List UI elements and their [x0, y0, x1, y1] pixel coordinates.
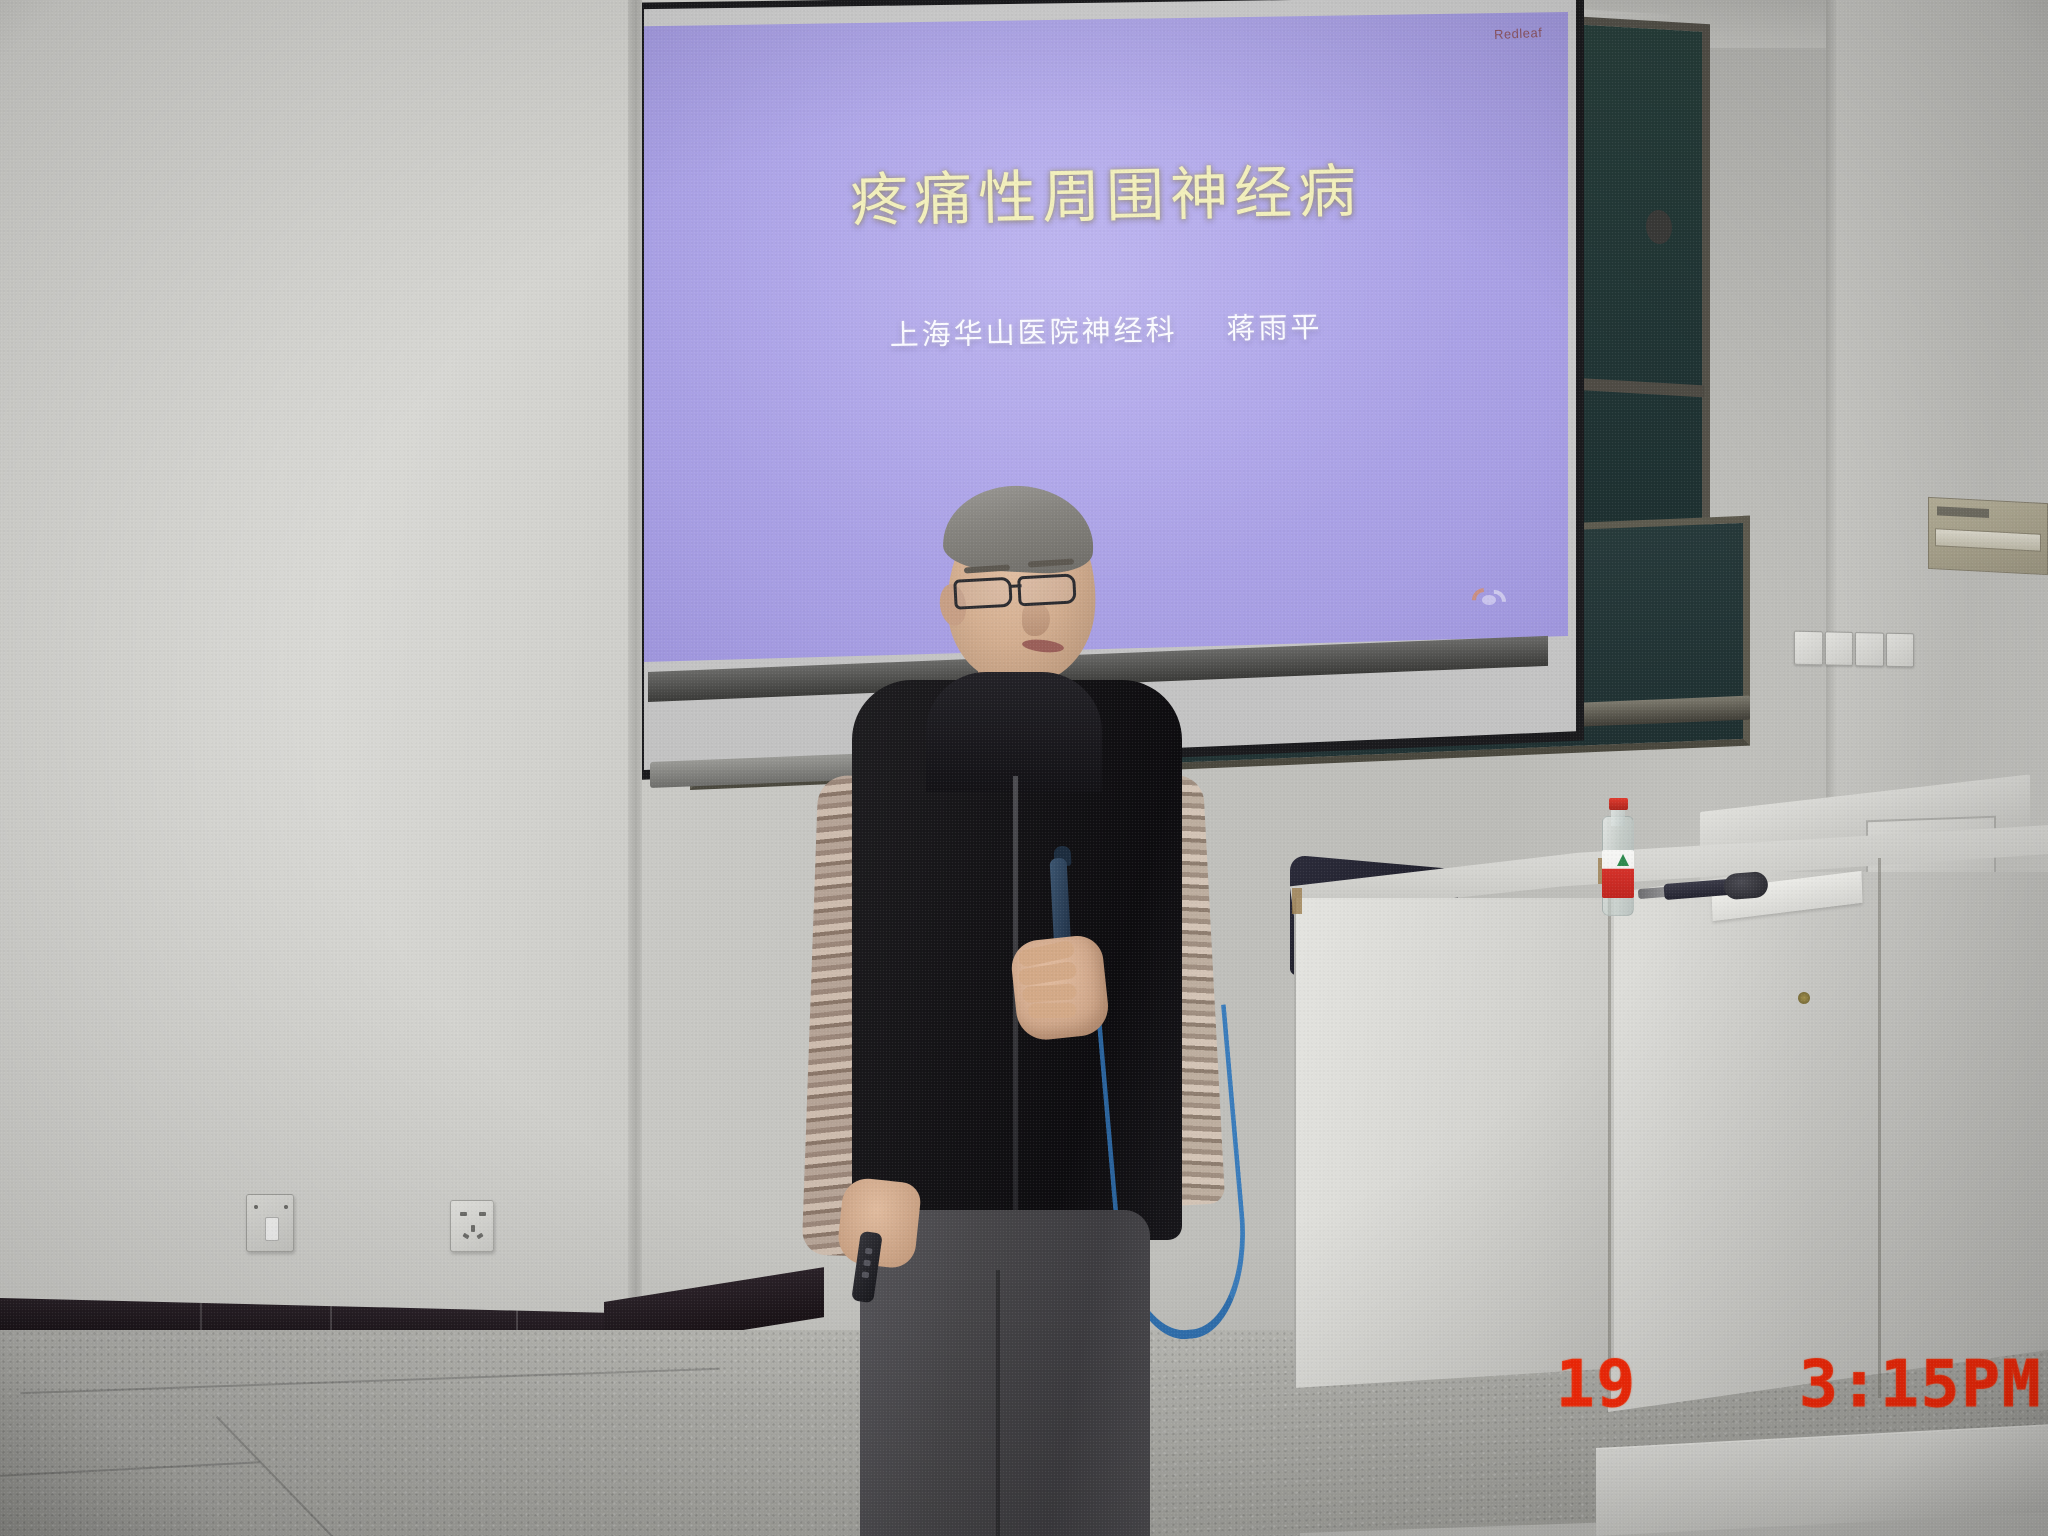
electrical-breaker-panel[interactable]	[1928, 497, 2048, 575]
corner-logo-icon	[1468, 588, 1510, 613]
glasses-right-lens	[1017, 573, 1076, 606]
wall-switch-4[interactable]	[1886, 633, 1915, 668]
presenter-torso	[818, 680, 1218, 1240]
socket-slot	[460, 1212, 467, 1216]
camera-timestamp: 19 3:15PM	[1556, 1348, 2042, 1422]
socket-slot	[476, 1233, 483, 1240]
screen-brand-label: Redleaf	[1493, 25, 1542, 42]
left-wall	[0, 0, 640, 1380]
remote-button[interactable]	[865, 1248, 873, 1255]
finger	[1028, 1003, 1076, 1019]
left-wall-edge	[628, 0, 642, 1340]
trouser-crease	[996, 1270, 1000, 1536]
wall-switch-1[interactable]	[1794, 631, 1823, 666]
glasses-left-lens	[953, 577, 1012, 610]
podium-side-panel	[1608, 872, 2048, 1412]
podium-panel-seam	[1608, 882, 1611, 1406]
socket-slot	[471, 1225, 475, 1232]
lecture-hall-photo: 疼痛性周围神经病 上海华山医院神经科 蒋雨平 Redleaf	[0, 0, 2048, 1536]
wall-switch-2[interactable]	[1825, 631, 1854, 666]
remote-button[interactable]	[863, 1260, 871, 1267]
presenter	[800, 480, 1250, 1536]
right-wall-switch-bank[interactable]	[1794, 631, 1914, 668]
microphone-head	[1723, 871, 1769, 900]
breaker-switch-row[interactable]	[1935, 528, 2041, 552]
switch-screw	[284, 1205, 288, 1209]
bottle-cap[interactable]	[1609, 798, 1628, 810]
podium-panel-seam	[1878, 858, 1881, 1398]
bottle-label	[1602, 850, 1634, 898]
finger	[1022, 983, 1077, 1003]
switch-rocker[interactable]	[265, 1217, 279, 1241]
power-socket-plate[interactable]	[450, 1200, 494, 1252]
chalkboard-roller-knob	[1646, 209, 1672, 245]
presenter-right-hand	[1009, 933, 1111, 1042]
breaker-panel-label	[1937, 506, 1989, 518]
podium-lock-icon[interactable]	[1798, 992, 1810, 1004]
socket-slot	[462, 1233, 469, 1240]
water-bottle[interactable]	[1600, 798, 1636, 916]
switch-screw	[254, 1205, 258, 1209]
wall-switch-3[interactable]	[1855, 632, 1884, 667]
podium-edge-trim	[1292, 888, 1302, 914]
remote-button[interactable]	[862, 1271, 870, 1278]
vest-collar	[926, 672, 1102, 792]
slide-title: 疼痛性周围神经病	[644, 140, 1568, 242]
podium-front-panel	[1294, 898, 1614, 1388]
socket-slot	[479, 1212, 486, 1216]
light-switch-plate[interactable]	[246, 1194, 294, 1252]
